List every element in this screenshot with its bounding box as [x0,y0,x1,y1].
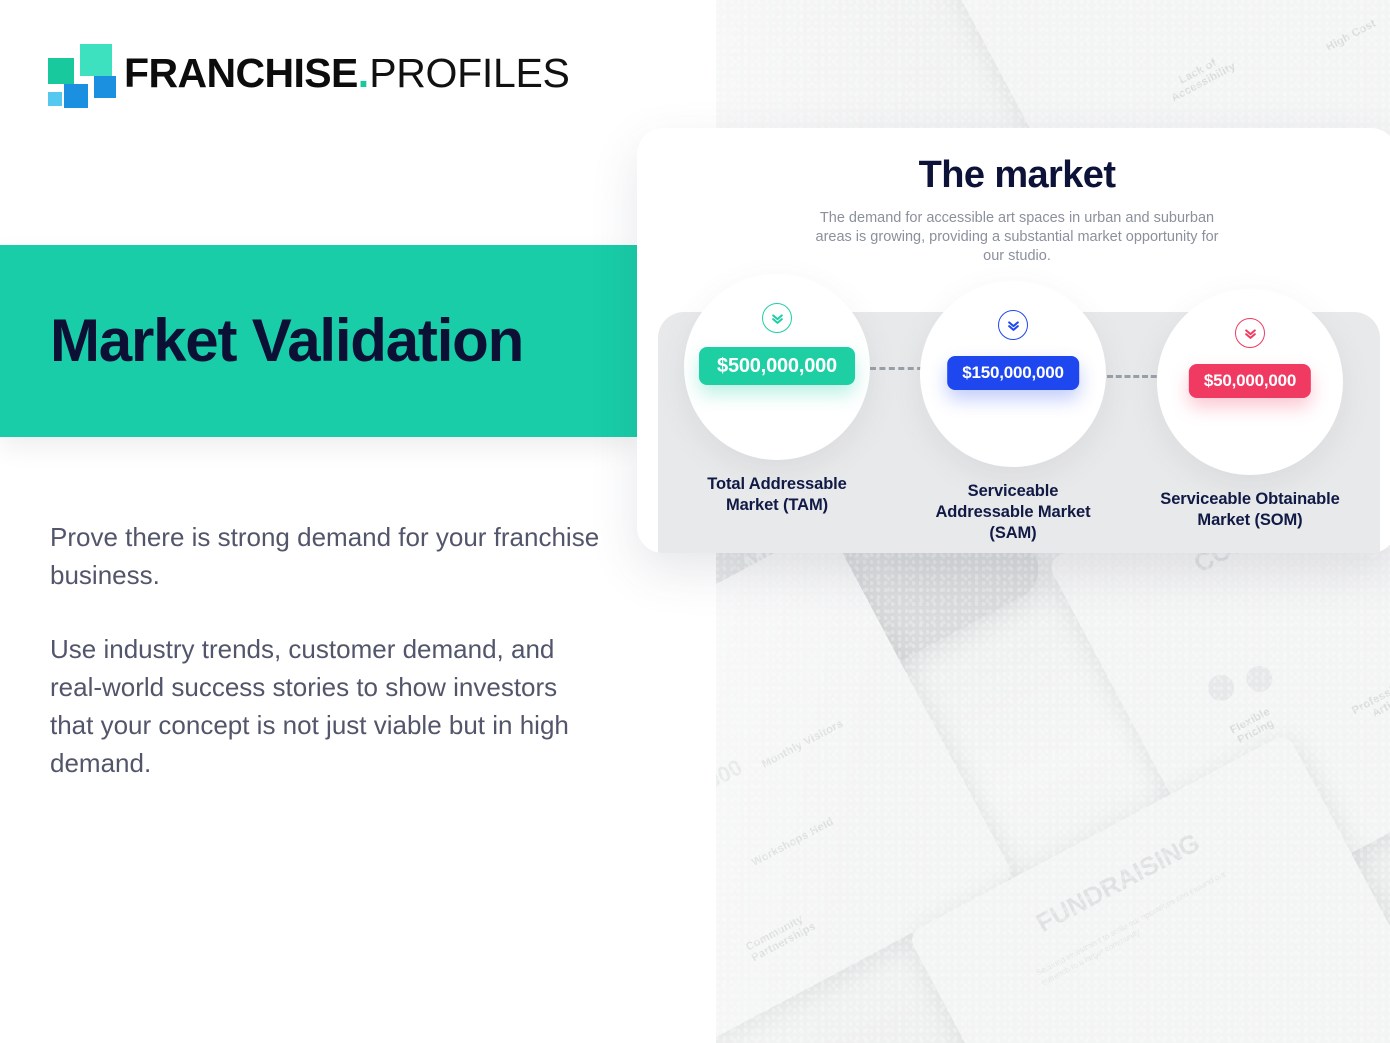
market-value-badge-tam: $500,000,000 [699,347,855,385]
market-node-circle: $500,000,000 [684,274,870,460]
market-node-circle: $150,000,000 [920,281,1106,467]
body-copy: Prove there is strong demand for your fr… [50,518,605,782]
double-chevron-down-circle-icon [1235,318,1265,348]
logo-name-bold: FRANCHISE [124,50,358,97]
market-node-label-sam: Serviceable Addressable Market (SAM) [920,481,1106,544]
market-value-badge-som: $50,000,000 [1189,364,1311,398]
market-node-label-som: Serviceable Obtainable Market (SOM) [1157,489,1343,531]
body-paragraph-1: Prove there is strong demand for your fr… [50,518,605,594]
market-node-sam[interactable]: $150,000,000 Serviceable Addressable Mar… [920,281,1106,544]
market-node-circle: $50,000,000 [1157,289,1343,475]
logo-name-light: PROFILES [369,50,569,97]
logo-wordmark: FRANCHISE.PROFILES [124,50,570,97]
market-node-tam[interactable]: $500,000,000 Total Addressable Market (T… [684,274,870,516]
market-card-subtitle: The demand for accessible art spaces in … [808,209,1226,266]
market-value-badge-sam: $150,000,000 [947,356,1079,390]
logo-mark-icon [48,44,108,102]
market-node-label-tam: Total Addressable Market (TAM) [684,474,870,516]
slide-canvas: BUSINESS MODEL Revenue generation throug… [0,0,1390,1043]
market-card: The market The demand for accessible art… [637,128,1390,553]
page-title: Market Validation [50,311,523,371]
brand-logo[interactable]: FRANCHISE.PROFILES [48,44,570,102]
body-paragraph-2: Use industry trends, customer demand, an… [50,630,605,782]
double-chevron-down-circle-icon [998,310,1028,340]
market-node-som[interactable]: $50,000,000 Serviceable Obtainable Marke… [1157,289,1343,531]
double-chevron-down-circle-icon [762,303,792,333]
logo-name-dot: . [358,50,369,97]
market-card-title: The market [637,154,1390,197]
headline-banner: Market Validation [0,245,637,437]
